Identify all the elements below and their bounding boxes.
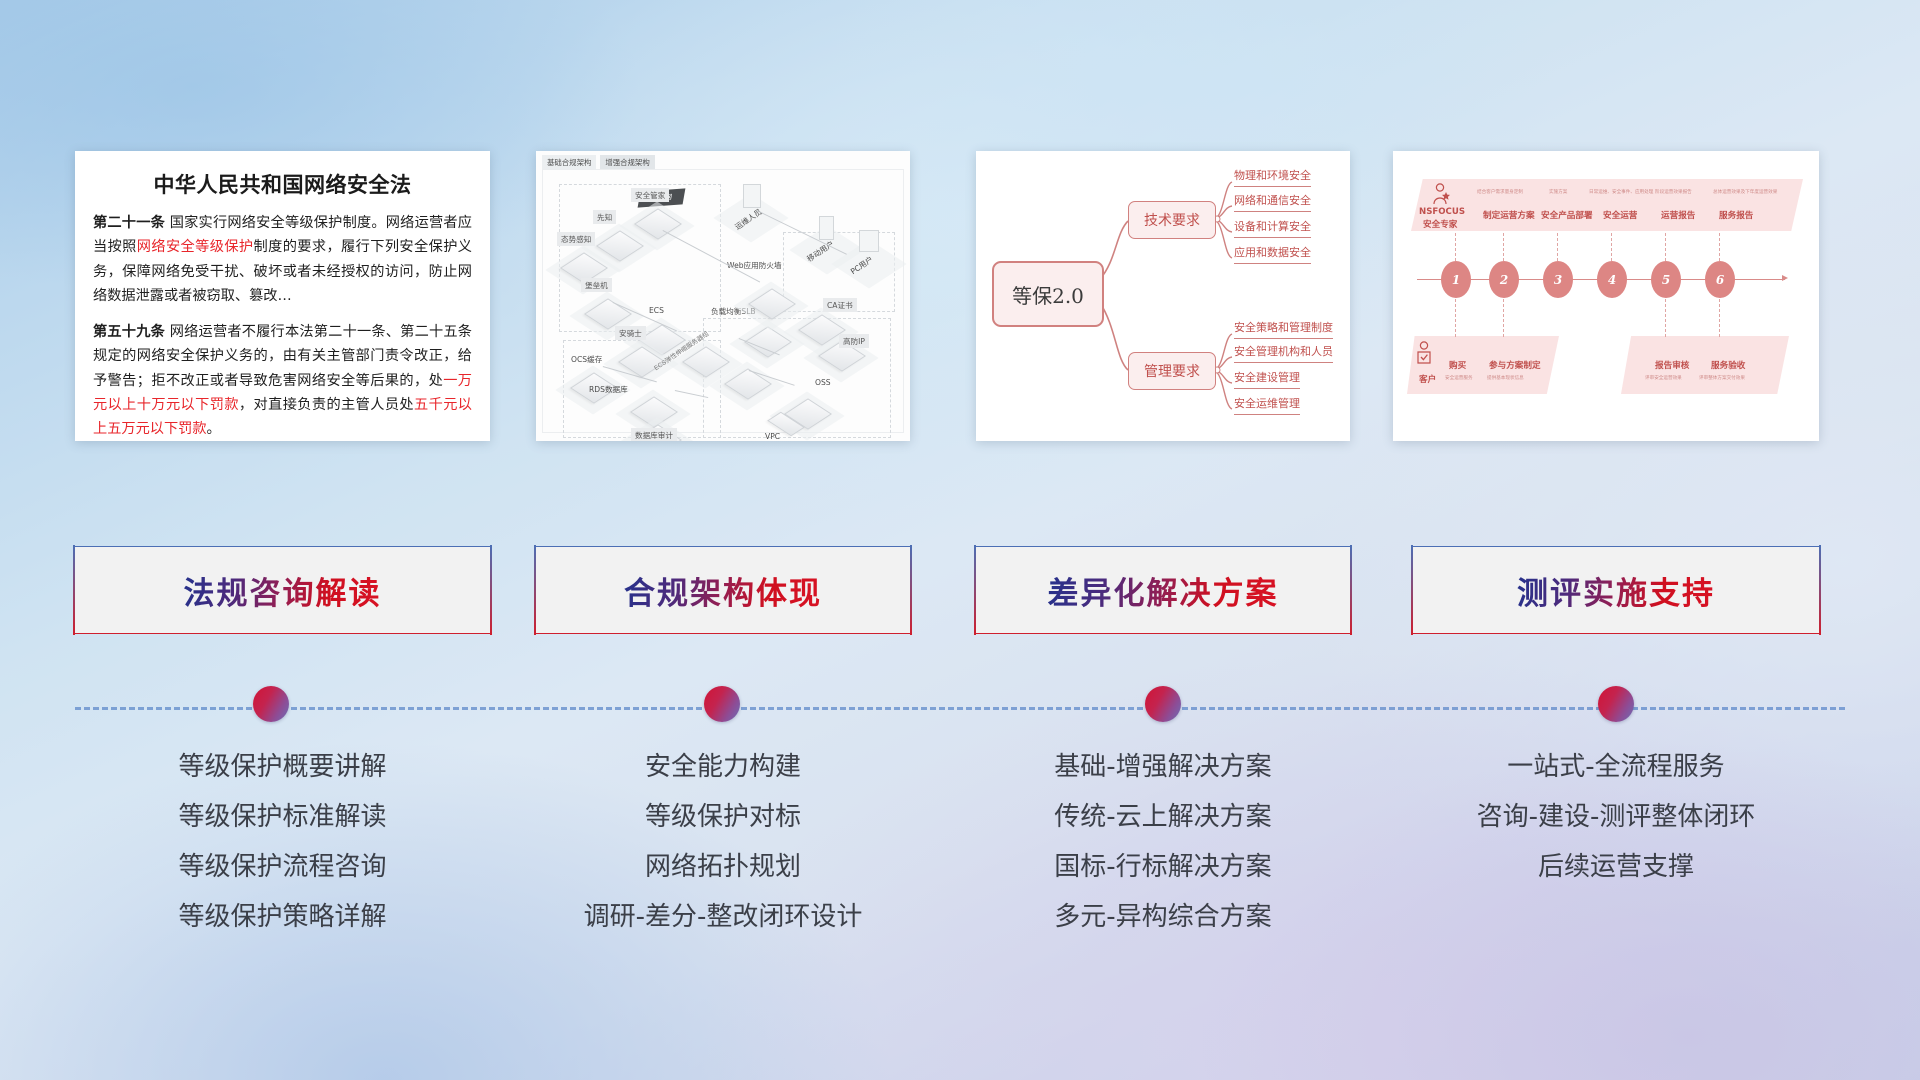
feature-list-2: 安全能力构建 等级保护对标 网络拓扑规划 调研-差分-整改闭环设计 xyxy=(536,742,910,942)
list-item: 咨询-建设-测评整体闭环 xyxy=(1413,792,1819,842)
timeline-node-1[interactable] xyxy=(253,686,289,722)
list-item: 等级保护策略详解 xyxy=(75,892,490,942)
timeline-top-title-1: 制定运营方案 xyxy=(1483,209,1535,221)
timeline-bottom-sub-1: 安全运营服务 xyxy=(1445,375,1473,381)
mindmap-root: 等保2.0 xyxy=(992,261,1104,327)
section-header-box-4[interactable]: 测评实施支持 xyxy=(1413,546,1819,634)
mindmap-branch-technical: 技术要求 xyxy=(1128,201,1216,239)
list-item: 基础-增强解决方案 xyxy=(976,742,1350,792)
mindmap-leaf-operations-mgmt: 安全运维管理 xyxy=(1234,395,1300,415)
section-header-box-3[interactable]: 差异化解决方案 xyxy=(976,546,1350,634)
law-article-21: 第二十一条 国家实行网络安全等级保护制度。网络运营者应当按照网络安全等级保护制度… xyxy=(93,211,472,309)
section-header-label-1: 法规咨询解读 xyxy=(184,568,382,613)
arch-label-ecs: ECS xyxy=(645,304,668,316)
preview-cards-row: 中华人民共和国网络安全法 第二十一条 国家实行网络安全等级保护制度。网络运营者应… xyxy=(0,0,1920,460)
timeline-connector-4 xyxy=(1611,233,1612,261)
timeline-connector-5 xyxy=(1665,233,1666,261)
arch-label-rds-database: RDS数据库 xyxy=(585,382,632,396)
timeline-node-2[interactable] xyxy=(704,686,740,722)
card-service-timeline: NSFOCUS 安全专家 结合客户需求量身定制 制定运营方案 实施方案 安全产品… xyxy=(1393,151,1819,441)
law-body: 中华人民共和国网络安全法 第二十一条 国家实行网络安全等级保护制度。网络运营者应… xyxy=(75,151,490,441)
card-cloud-architecture: 基础合规架构 增强合规架构 互联网 态势感知 先 xyxy=(536,151,910,441)
mindmap-leaf-policy-system: 安全策略和管理制度 xyxy=(1234,319,1333,339)
architecture-tab-enhanced[interactable]: 增强合规架构 xyxy=(600,155,654,170)
timeline-bottom-sub-2: 提供基本现状信息 xyxy=(1487,375,1524,381)
timeline-top-title-3: 安全运营 xyxy=(1603,209,1637,221)
timeline-node-3[interactable] xyxy=(1145,686,1181,722)
timeline-band-expert xyxy=(1411,179,1803,231)
expert-person-icon xyxy=(1431,183,1451,205)
card-mindmap: 等保2.0 技术要求 物理和环境安全 网络和通信安全 设备和计算安全 应用和数据… xyxy=(976,151,1350,441)
timeline-step-dot-1: 1 xyxy=(1441,261,1471,298)
timeline-expert-line2: 安全专家 xyxy=(1423,218,1457,230)
timeline-step-dot-4: 4 xyxy=(1597,261,1627,298)
list-item: 多元-异构综合方案 xyxy=(976,892,1350,942)
timeline-top-sub-1: 结合客户需求量身定制 xyxy=(1477,189,1523,195)
section-header-label-2: 合规架构体现 xyxy=(624,568,822,613)
timeline-bottom-title-3: 报告审核 xyxy=(1655,359,1689,371)
customer-person-icon xyxy=(1415,341,1435,367)
list-item: 等级保护概要讲解 xyxy=(75,742,490,792)
timeline-bottom-title-4: 服务验收 xyxy=(1711,359,1745,371)
list-item: 调研-差分-整改闭环设计 xyxy=(536,892,910,942)
timeline-connector-b4 xyxy=(1719,299,1720,337)
timeline-top-title-2: 安全产品部署 xyxy=(1541,209,1593,221)
mindmap-leaf-construction-mgmt: 安全建设管理 xyxy=(1234,369,1300,389)
arch-label-xianzhi: 先知 xyxy=(593,210,616,224)
law-article-59: 第五十九条 网络运营者不履行本法第二十一条、第二十五条规定的网络安全保护义务的，… xyxy=(93,320,472,441)
list-item: 后续运营支撑 xyxy=(1413,842,1819,892)
feature-lists-row: 等级保护概要讲解 等级保护标准解读 等级保护流程咨询 等级保护策略详解 安全能力… xyxy=(0,742,1920,972)
law-article-21-label: 第二十一条 xyxy=(93,215,165,231)
mindmap-leaf-app-data: 应用和数据安全 xyxy=(1234,244,1311,264)
list-item: 国标-行标解决方案 xyxy=(976,842,1350,892)
timeline-top-title-4: 运营报告 xyxy=(1661,209,1695,221)
law-article-59-text-b: ，对直接负责的主管人员处 xyxy=(239,397,414,413)
timeline-bottom-title-2: 参与方案制定 xyxy=(1489,359,1541,371)
arch-label-vpc: VPC xyxy=(761,430,784,441)
service-timeline-diagram: NSFOCUS 安全专家 结合客户需求量身定制 制定运营方案 实施方案 安全产品… xyxy=(1393,151,1819,441)
feature-list-4: 一站式-全流程服务 咨询-建设-测评整体闭环 后续运营支撑 xyxy=(1413,742,1819,892)
timeline-connector-2 xyxy=(1503,233,1504,261)
law-article-21-highlight: 网络安全等级保护 xyxy=(137,239,254,255)
timeline-step-dot-6: 6 xyxy=(1705,261,1735,298)
timeline-axis-arrow xyxy=(1782,275,1788,281)
timeline-top-sub-4: 阶段运营效果报告 xyxy=(1655,189,1692,195)
arch-label-security-butler: 安全管家 xyxy=(631,188,669,202)
arch-label-db-audit: 数据库审计 xyxy=(631,428,677,441)
timeline-top-title-5: 服务报告 xyxy=(1719,209,1753,221)
card-law-text: 中华人民共和国网络安全法 第二十一条 国家实行网络安全等级保护制度。网络运营者应… xyxy=(75,151,490,441)
list-item: 等级保护流程咨询 xyxy=(75,842,490,892)
arch-label-ocs-cache: OCS缓存 xyxy=(567,352,606,366)
arch-label-bastion-host: 堡垒机 xyxy=(581,278,612,292)
mindmap-leaf-physical-env: 物理和环境安全 xyxy=(1234,167,1311,187)
timeline-top-sub-5: 总体运营效果及下年度运营效果 xyxy=(1713,189,1777,195)
architecture-tabs: 基础合规架构 增强合规架构 xyxy=(542,155,655,170)
timeline-connector-b1 xyxy=(1455,299,1456,337)
timeline-connector-b3 xyxy=(1665,299,1666,337)
timeline-step-dot-3: 3 xyxy=(1543,261,1573,298)
architecture-frame: 互联网 态势感知 先知 安全管家 堡垒机 xyxy=(542,169,904,433)
mindmap-leaf-network-comm: 网络和通信安全 xyxy=(1234,192,1311,212)
list-item: 传统-云上解决方案 xyxy=(976,792,1350,842)
architecture-diagram: 基础合规架构 增强合规架构 互联网 态势感知 先 xyxy=(536,151,910,441)
timeline-bottom-sub-3: 评审安全运营效果 xyxy=(1645,375,1682,381)
arch-label-ca-cert: CA证书 xyxy=(823,298,857,312)
arch-label-anqishi: 安骑士 xyxy=(615,326,646,340)
arch-label-oss: OSS xyxy=(811,376,835,388)
timeline-top-sub-3: 日常运维、安全事件、应用处理 xyxy=(1589,189,1653,195)
timeline-connector-1 xyxy=(1455,233,1456,261)
timeline-step-dot-2: 2 xyxy=(1489,261,1519,298)
timeline-rail-row xyxy=(0,686,1920,730)
list-item: 等级保护对标 xyxy=(536,792,910,842)
list-item: 安全能力构建 xyxy=(536,742,910,792)
feature-list-1: 等级保护概要讲解 等级保护标准解读 等级保护流程咨询 等级保护策略详解 xyxy=(75,742,490,942)
law-article-59-text-c: 。 xyxy=(207,421,221,437)
timeline-dashed-rail xyxy=(75,707,1845,710)
mindmap-branch-management: 管理要求 xyxy=(1128,352,1216,390)
section-header-box-2[interactable]: 合规架构体现 xyxy=(536,546,910,634)
mindmap-leaf-device-compute: 设备和计算安全 xyxy=(1234,218,1311,238)
law-article-59-label: 第五十九条 xyxy=(93,324,165,340)
law-title: 中华人民共和国网络安全法 xyxy=(93,169,472,199)
mindmap-leaf-org-personnel: 安全管理机构和人员 xyxy=(1234,343,1333,363)
arch-label-waf: Web应用防火墙 xyxy=(723,258,786,272)
timeline-connector-b2 xyxy=(1503,299,1504,337)
section-header-label-3: 差异化解决方案 xyxy=(1048,568,1279,613)
timeline-bottom-sub-4: 评审整体方案交付效果 xyxy=(1699,375,1745,381)
timeline-band-customer-right xyxy=(1621,336,1789,394)
section-header-box-1[interactable]: 法规咨询解读 xyxy=(75,546,490,634)
section-header-label-4: 测评实施支持 xyxy=(1517,568,1715,613)
timeline-top-sub-2: 实施方案 xyxy=(1549,189,1567,195)
list-item: 网络拓扑规划 xyxy=(536,842,910,892)
mindmap-diagram: 等保2.0 技术要求 物理和环境安全 网络和通信安全 设备和计算安全 应用和数据… xyxy=(976,151,1350,441)
feature-list-3: 基础-增强解决方案 传统-云上解决方案 国标-行标解决方案 多元-异构综合方案 xyxy=(976,742,1350,942)
timeline-connector-6 xyxy=(1719,233,1720,261)
timeline-bottom-title-1: 购买 xyxy=(1449,359,1466,371)
list-item: 等级保护标准解读 xyxy=(75,792,490,842)
list-item: 一站式-全流程服务 xyxy=(1413,742,1819,792)
timeline-connector-3 xyxy=(1557,233,1558,261)
timeline-step-dot-5: 5 xyxy=(1651,261,1681,298)
timeline-customer-label: 客户 xyxy=(1419,373,1436,385)
timeline-node-4[interactable] xyxy=(1598,686,1634,722)
timeline-expert-line1: NSFOCUS xyxy=(1419,207,1465,217)
arch-label-anti-ddos-ip: 高防IP xyxy=(839,334,869,348)
architecture-tab-basic[interactable]: 基础合规架构 xyxy=(542,155,596,170)
